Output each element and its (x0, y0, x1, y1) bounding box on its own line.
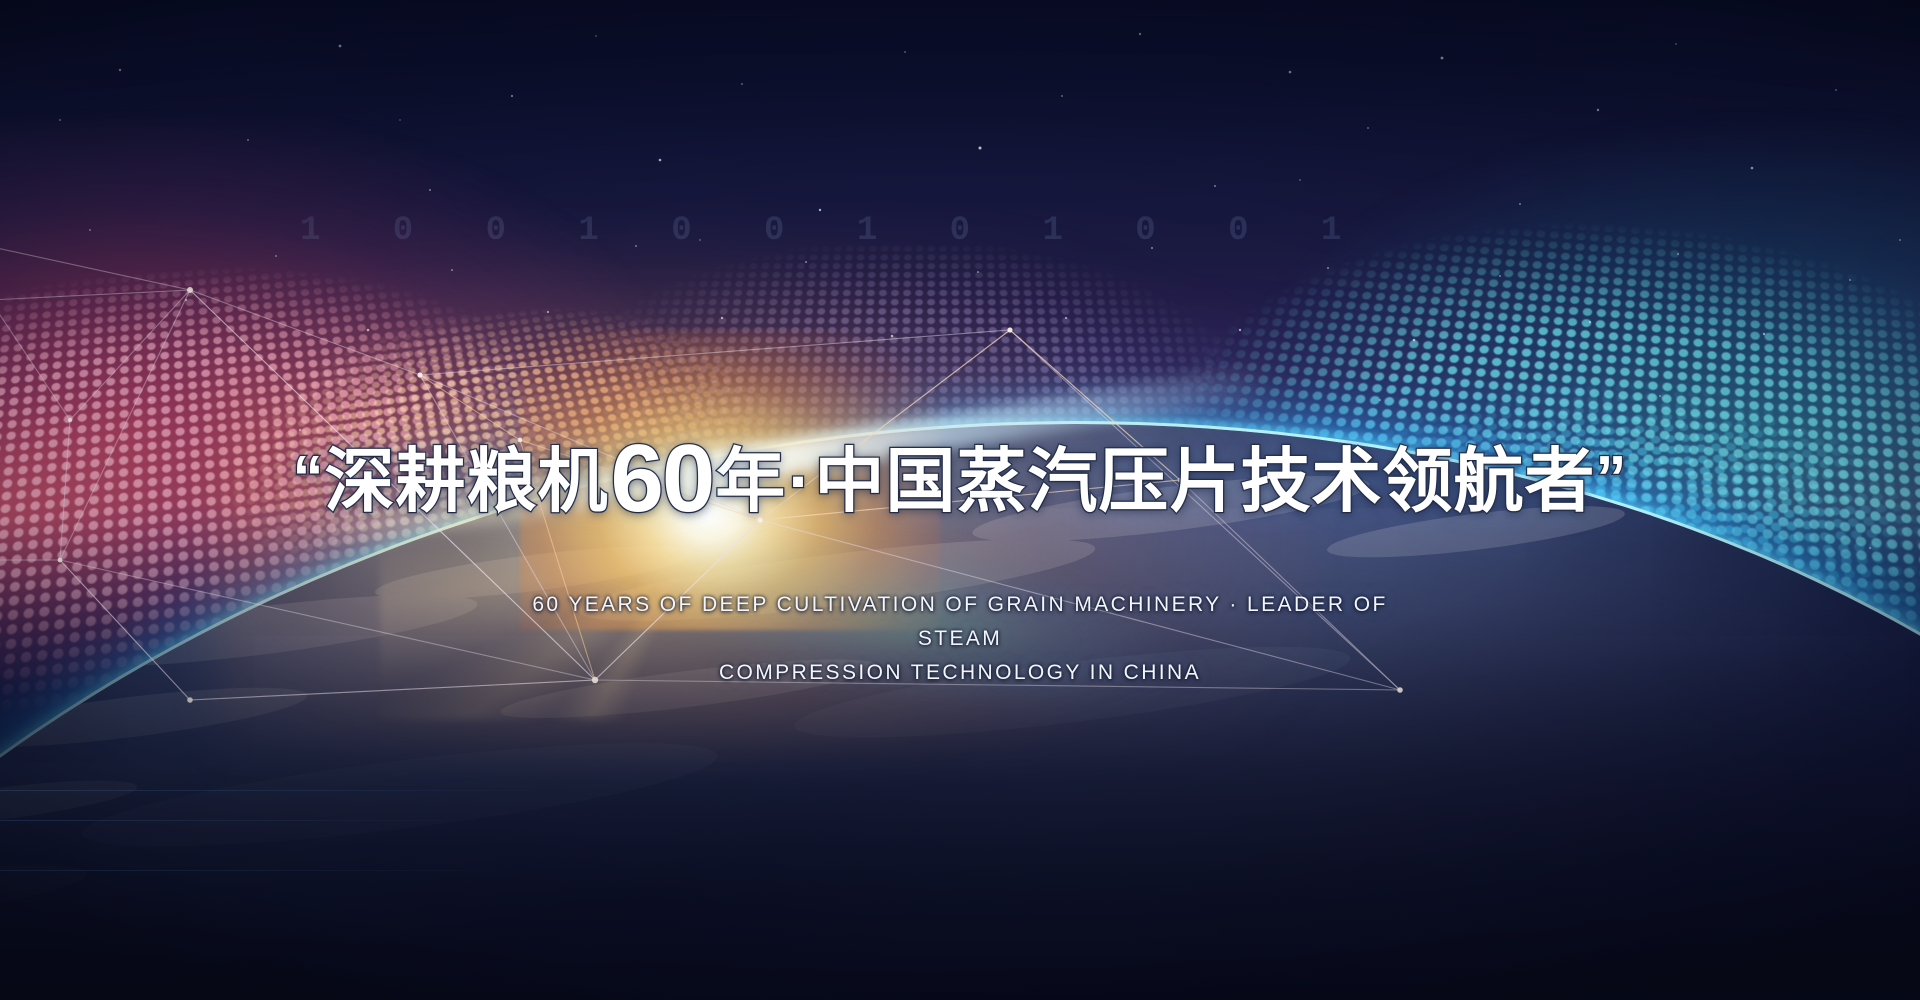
scanline (0, 870, 520, 871)
scanline (0, 790, 560, 791)
page-subtitle: 60 YEARS OF DEEP CULTIVATION OF GRAIN MA… (510, 588, 1410, 690)
headline-number: 60 (608, 431, 715, 527)
headline-segment-2: 年 (715, 446, 786, 516)
subtitle-line-1: 60 YEARS OF DEEP CULTIVATION OF GRAIN MA… (532, 593, 1387, 650)
subtitle-line-2: COMPRESSION TECHNOLOGY IN CHINA (510, 656, 1410, 690)
page-title: “深耕粮机60年·中国蒸汽压片技术领航者” (292, 425, 1627, 521)
headline-segment-3: 中国蒸汽压片技术领航者 (815, 446, 1596, 516)
scanline (0, 820, 480, 821)
hero-banner: 1 0 0 1 0 0 1 0 1 0 0 1 1 0 0 1 0 1 0 0 … (0, 0, 1920, 1000)
close-quote: ” (1596, 448, 1628, 510)
headline-separator: · (786, 446, 814, 516)
open-quote: “ (292, 448, 324, 510)
headline-segment-1: 深耕粮机 (324, 446, 608, 516)
hero-text-block: “深耕粮机60年·中国蒸汽压片技术领航者” 60 YEARS OF DEEP C… (0, 378, 1920, 690)
